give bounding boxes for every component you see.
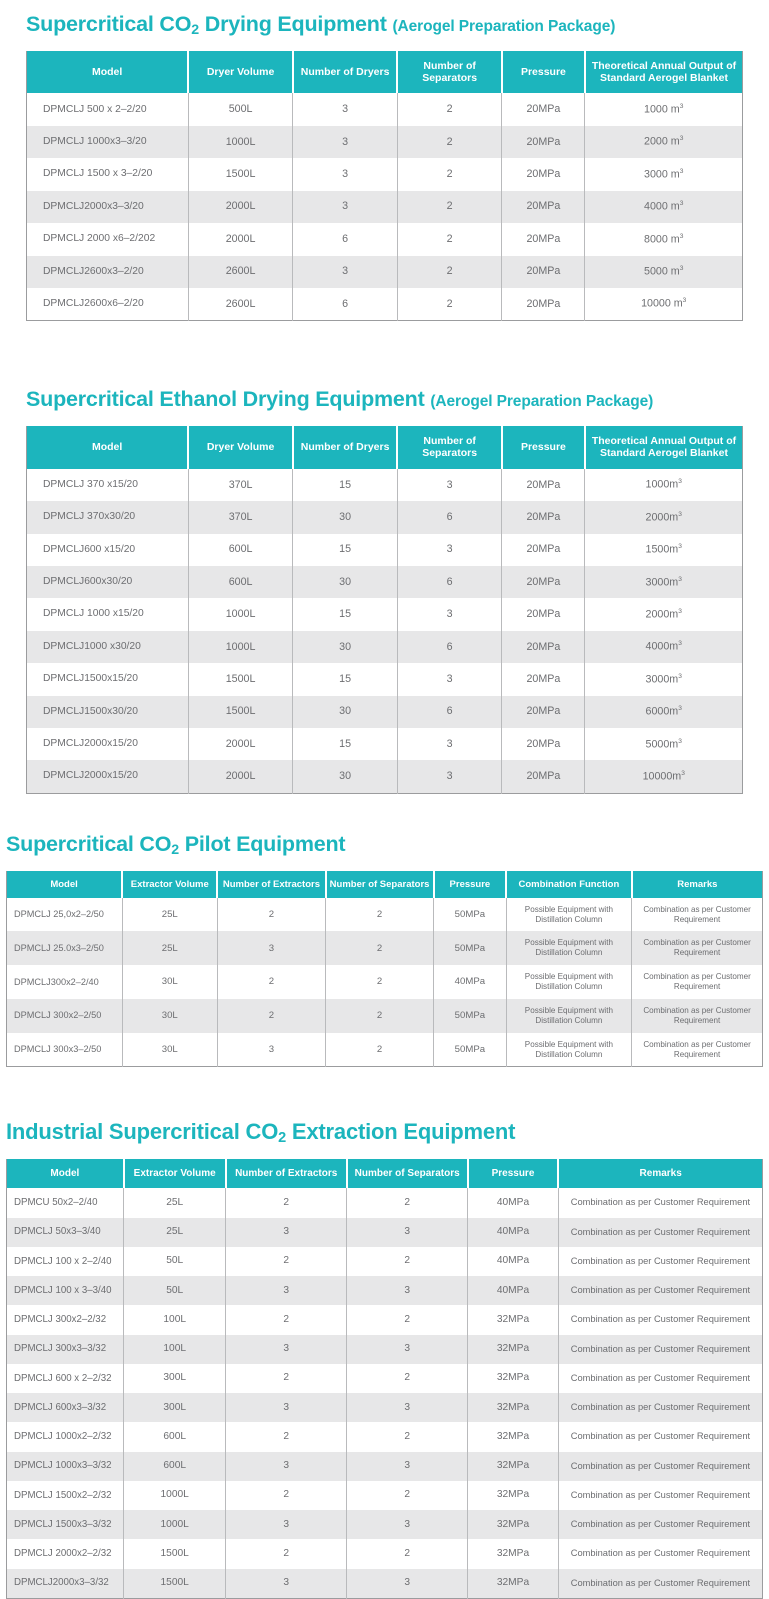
table-cell: Combination as per Customer Requirement xyxy=(558,1393,762,1422)
table-cell: 40MPa xyxy=(434,965,507,999)
col-header-model: Model xyxy=(27,51,189,94)
table-row: DPMCLJ 300x3–2/5030L3250MPaPossible Equi… xyxy=(7,1033,763,1067)
table-row: DPMCLJ 300x2–2/5030L2250MPaPossible Equi… xyxy=(7,999,763,1033)
table-cell: 2 xyxy=(397,126,502,158)
table-cell: 2 xyxy=(326,1033,434,1067)
table-cell: DPMCLJ 1000x2–2/32 xyxy=(7,1422,124,1451)
table-row: DPMCLJ 1500x2–2/321000L2232MPaCombinatio… xyxy=(7,1481,763,1510)
col-header-remarks: Remarks xyxy=(558,1159,762,1189)
table-cell: 32MPa xyxy=(468,1510,559,1539)
table-cell: 2 xyxy=(397,191,502,223)
table-cell: 2 xyxy=(326,898,434,932)
table-wrapper-co2-pilot: Model Extractor Volume Number of Extract… xyxy=(0,871,769,1068)
table-cell: 20MPa xyxy=(502,501,585,533)
table-row: DPMCLJ 100 x 2–2/4050L2240MPaCombination… xyxy=(7,1247,763,1276)
table-cell: 4000m3 xyxy=(585,631,743,663)
col-header-annual-output: Theoretical Annual Output of Standard Ae… xyxy=(585,426,743,469)
col-header-annual-output: Theoretical Annual Output of Standard Ae… xyxy=(585,51,743,94)
table-cell: 3 xyxy=(397,598,502,630)
table-header-row: Model Extractor Volume Number of Extract… xyxy=(7,871,763,898)
table-cell: 20MPa xyxy=(502,158,585,190)
table-row: DPMCLJ 300x2–2/32100L2232MPaCombination … xyxy=(7,1305,763,1334)
table-cell: 25L xyxy=(124,1218,226,1247)
table-cell: 3 xyxy=(397,760,502,793)
table-cell: 8000 m3 xyxy=(585,223,743,255)
col-header-pressure: Pressure xyxy=(468,1159,559,1189)
table-row: DPMCLJ1500x15/201500L15320MPa3000m3 xyxy=(27,663,743,695)
table-cell: Combination as per Customer Requirement xyxy=(558,1276,762,1305)
table-cell: 2600L xyxy=(188,288,293,321)
table-cell: 6 xyxy=(397,696,502,728)
table-row: DPMCLJ600 x15/20600L15320MPa1500m3 xyxy=(27,534,743,566)
table-cell: 50MPa xyxy=(434,1033,507,1067)
table-cell: DPMCLJ 100 x 2–2/40 xyxy=(7,1247,124,1276)
table-cell: 1500L xyxy=(124,1569,226,1599)
table-cell: 600L xyxy=(124,1452,226,1481)
table-cell: 20MPa xyxy=(502,93,585,125)
table-cell: Combination as per Customer Requirement xyxy=(558,1481,762,1510)
table-row: DPMCLJ 1000x3–3/201000L3220MPa2000 m3 xyxy=(27,126,743,158)
table-cell: 2000L xyxy=(188,728,293,760)
table-cell: 3 xyxy=(347,1276,468,1305)
table-cell: 2 xyxy=(226,1539,347,1568)
table-cell: 1000L xyxy=(188,126,293,158)
table-cell: Combination as per Customer Requirement xyxy=(558,1305,762,1334)
table-cell: Combination as per Customer Requirement xyxy=(558,1510,762,1539)
table-cell: 20MPa xyxy=(502,288,585,321)
table-cell: 10000 m3 xyxy=(585,288,743,321)
col-header-extractor-volume: Extractor Volume xyxy=(122,871,217,898)
table-header-row: Model Dryer Volume Number of Dryers Numb… xyxy=(27,51,743,94)
table-cell: 3 xyxy=(293,93,398,125)
table-row: DPMCLJ 1500 x 3–2/201500L3220MPa3000 m3 xyxy=(27,158,743,190)
table-cell: 3 xyxy=(226,1335,347,1364)
table-cell: DPMCLJ 25.0x3–2/50 xyxy=(7,931,123,965)
table-cell: 30 xyxy=(293,501,398,533)
col-header-number-of-separators: Number of Separators xyxy=(397,426,502,469)
table-ethanol-drying: Model Dryer Volume Number of Dryers Numb… xyxy=(26,426,743,794)
table-cell: DPMCLJ2600x3–2/20 xyxy=(27,256,189,288)
title-main-text: Industrial Supercritical CO xyxy=(6,1119,278,1144)
table-cell: 15 xyxy=(293,534,398,566)
table-row: DPMCLJ1500x30/201500L30620MPa6000m3 xyxy=(27,696,743,728)
table-cell: Possible Equipment with Distillation Col… xyxy=(506,931,631,965)
table-cell: 3 xyxy=(226,1510,347,1539)
table-cell: Possible Equipment with Distillation Col… xyxy=(506,898,631,932)
table-cell: 30L xyxy=(122,965,217,999)
col-header-extractor-volume: Extractor Volume xyxy=(124,1159,226,1189)
table-cell: 20MPa xyxy=(502,469,585,501)
table-cell: 20MPa xyxy=(502,760,585,793)
col-header-number-of-separators: Number of Separators xyxy=(326,871,434,898)
col-header-number-of-dryers: Number of Dryers xyxy=(293,426,398,469)
table-row: DPMCLJ 50x3–3/4025L3340MPaCombination as… xyxy=(7,1218,763,1247)
table-cell: 20MPa xyxy=(502,191,585,223)
title-subscript: 2 xyxy=(191,22,199,38)
title-subscript: 2 xyxy=(171,842,179,858)
table-wrapper-ethanol-drying: Model Dryer Volume Number of Dryers Numb… xyxy=(0,426,769,794)
table-cell: DPMCLJ 1000 x15/20 xyxy=(27,598,189,630)
table-cell: 3 xyxy=(397,469,502,501)
table-cell: DPMCLJ600 x15/20 xyxy=(27,534,189,566)
table-row: DPMCLJ 1000x3–3/32600L3332MPaCombination… xyxy=(7,1452,763,1481)
table-row: DPMCLJ600x30/20600L30620MPa3000m3 xyxy=(27,566,743,598)
table-cell: 50MPa xyxy=(434,999,507,1033)
table-cell: 1500m3 xyxy=(585,534,743,566)
table-cell: 2 xyxy=(226,1422,347,1451)
table-cell: 2 xyxy=(347,1364,468,1393)
table-cell: 2 xyxy=(217,965,325,999)
table-cell: 1000L xyxy=(124,1481,226,1510)
table-cell: 300L xyxy=(124,1364,226,1393)
table-cell: 6000m3 xyxy=(585,696,743,728)
page-title-industrial-extraction: Industrial Supercritical CO2 Extraction … xyxy=(0,1119,769,1144)
table-cell: 32MPa xyxy=(468,1305,559,1334)
title-tail-text: Pilot Equipment xyxy=(179,832,345,856)
table-cell: DPMCLJ2000x15/20 xyxy=(27,728,189,760)
table-cell: 32MPa xyxy=(468,1452,559,1481)
table-cell: DPMCLJ2600x6–2/20 xyxy=(27,288,189,321)
table-cell: 6 xyxy=(397,566,502,598)
table-row: DPMCLJ 370 x15/20370L15320MPa1000m3 xyxy=(27,469,743,501)
table-cell: 6 xyxy=(397,631,502,663)
table-cell: 32MPa xyxy=(468,1335,559,1364)
col-header-model: Model xyxy=(7,871,123,898)
table-row: DPMCLJ 25.0x3–2/5025L3250MPaPossible Equ… xyxy=(7,931,763,965)
table-cell: 25L xyxy=(122,931,217,965)
table-cell: 32MPa xyxy=(468,1364,559,1393)
page-title-co2-pilot: Supercritical CO2 Pilot Equipment xyxy=(0,832,769,857)
section-industrial-extraction: Industrial Supercritical CO2 Extraction … xyxy=(0,1067,769,1598)
table-cell: 2000L xyxy=(188,223,293,255)
table-cell: 2 xyxy=(397,93,502,125)
table-cell: 4000 m3 xyxy=(585,191,743,223)
table-cell: 32MPa xyxy=(468,1393,559,1422)
col-header-pressure: Pressure xyxy=(502,426,585,469)
spec-sheet-page: Supercritical CO2 Drying Equipment (Aero… xyxy=(0,0,769,1599)
table-cell: 20MPa xyxy=(502,534,585,566)
section-ethanol-drying: Supercritical Ethanol Drying Equipment (… xyxy=(0,321,769,794)
table-cell: 30 xyxy=(293,631,398,663)
table-cell: 2 xyxy=(326,931,434,965)
table-row: DPMCLJ 600x3–3/32300L3332MPaCombination … xyxy=(7,1393,763,1422)
table-cell: DPMCLJ1000 x30/20 xyxy=(27,631,189,663)
col-header-model: Model xyxy=(7,1159,124,1189)
table-cell: 3 xyxy=(293,158,398,190)
table-cell: 1000L xyxy=(188,598,293,630)
table-cell: 3 xyxy=(347,1510,468,1539)
table-cell: 40MPa xyxy=(468,1188,559,1217)
table-cell: 600L xyxy=(124,1422,226,1451)
col-header-remarks: Remarks xyxy=(632,871,763,898)
table-cell: DPMCLJ1500x15/20 xyxy=(27,663,189,695)
table-cell: Combination as per Customer Requirement xyxy=(632,898,763,932)
table-cell: 1000 m3 xyxy=(585,93,743,125)
table-row: DPMCLJ2600x6–2/202600L6220MPa10000 m3 xyxy=(27,288,743,321)
table-cell: DPMCLJ 1000x3–3/20 xyxy=(27,126,189,158)
table-cell: 600L xyxy=(188,566,293,598)
table-cell: 3000m3 xyxy=(585,663,743,695)
table-cell: 3 xyxy=(226,1569,347,1599)
table-cell: 2 xyxy=(347,1422,468,1451)
table-cell: Combination as per Customer Requirement xyxy=(558,1539,762,1568)
table-cell: DPMCLJ 370 x15/20 xyxy=(27,469,189,501)
table-cell: 32MPa xyxy=(468,1422,559,1451)
table-wrapper-co2-drying: Model Dryer Volume Number of Dryers Numb… xyxy=(0,51,769,322)
table-cell: 15 xyxy=(293,728,398,760)
title-tail-text: Extraction Equipment xyxy=(286,1119,515,1144)
table-cell: 2 xyxy=(217,898,325,932)
table-cell: Combination as per Customer Requirement xyxy=(632,931,763,965)
table-cell: 3 xyxy=(347,1393,468,1422)
col-header-pressure: Pressure xyxy=(434,871,507,898)
table-header-row: Model Dryer Volume Number of Dryers Numb… xyxy=(27,426,743,469)
table-cell: 370L xyxy=(188,501,293,533)
col-header-number-of-extractors: Number of Extractors xyxy=(217,871,325,898)
table-row: DPMCLJ 2000x2–2/321500L2232MPaCombinatio… xyxy=(7,1539,763,1568)
table-cell: 2 xyxy=(347,1481,468,1510)
table-cell: 1000L xyxy=(188,631,293,663)
table-cell: 25L xyxy=(122,898,217,932)
table-row: DPMCLJ1000 x30/201000L30620MPa4000m3 xyxy=(27,631,743,663)
table-body-co2-pilot: DPMCLJ 25,0x2–2/5025L2250MPaPossible Equ… xyxy=(7,898,763,1067)
table-cell: 2000L xyxy=(188,760,293,793)
table-cell: 100L xyxy=(124,1335,226,1364)
table-industrial-extraction: Model Extractor Volume Number of Extract… xyxy=(6,1159,763,1599)
table-cell: DPMCLJ2000x3–3/32 xyxy=(7,1569,124,1599)
table-cell: Combination as per Customer Requirement xyxy=(632,1033,763,1067)
table-row: DPMCLJ2000x15/202000L15320MPa5000m3 xyxy=(27,728,743,760)
table-row: DPMCLJ2000x3–3/321500L3332MPaCombination… xyxy=(7,1569,763,1599)
table-cell: 2 xyxy=(347,1247,468,1276)
table-row: DPMCLJ 2000 x6–2/2022000L6220MPa8000 m3 xyxy=(27,223,743,255)
table-cell: 3 xyxy=(226,1276,347,1305)
table-row: DPMCLJ2000x15/202000L30320MPa10000m3 xyxy=(27,760,743,793)
col-header-dryer-volume: Dryer Volume xyxy=(188,51,293,94)
table-cell: 32MPa xyxy=(468,1539,559,1568)
table-cell: Combination as per Customer Requirement xyxy=(558,1422,762,1451)
table-cell: 3 xyxy=(293,191,398,223)
table-cell: 2 xyxy=(397,223,502,255)
title-main-text: Supercritical CO xyxy=(26,12,191,36)
table-cell: DPMCLJ 300x3–2/50 xyxy=(7,1033,123,1067)
table-cell: 20MPa xyxy=(502,696,585,728)
table-body-ethanol-drying: DPMCLJ 370 x15/20370L15320MPa1000m3DPMCL… xyxy=(27,469,743,794)
table-cell: 300L xyxy=(124,1393,226,1422)
table-cell: Possible Equipment with Distillation Col… xyxy=(506,965,631,999)
table-cell: 25L xyxy=(124,1188,226,1217)
table-cell: 50L xyxy=(124,1247,226,1276)
table-cell: 1500L xyxy=(124,1539,226,1568)
table-cell: DPMCLJ 1500 x 3–2/20 xyxy=(27,158,189,190)
table-cell: DPMCLJ600x30/20 xyxy=(27,566,189,598)
table-cell: Combination as per Customer Requirement xyxy=(558,1452,762,1481)
table-cell: 2 xyxy=(226,1188,347,1217)
title-main-text: Supercritical Ethanol Drying Equipment xyxy=(26,387,425,411)
table-cell: DPMCLJ 600 x 2–2/32 xyxy=(7,1364,124,1393)
table-cell: DPMCLJ 600x3–3/32 xyxy=(7,1393,124,1422)
col-header-combination-function: Combination Function xyxy=(506,871,631,898)
table-cell: DPMCLJ 500 x 2–2/20 xyxy=(27,93,189,125)
table-cell: 40MPa xyxy=(468,1276,559,1305)
table-cell: DPMCLJ 300x3–3/32 xyxy=(7,1335,124,1364)
table-row: DPMCLJ 300x3–3/32100L3332MPaCombination … xyxy=(7,1335,763,1364)
table-row: DPMCLJ 1500x3–3/321000L3332MPaCombinatio… xyxy=(7,1510,763,1539)
table-cell: 15 xyxy=(293,663,398,695)
table-cell: DPMCLJ 1500x2–2/32 xyxy=(7,1481,124,1510)
table-cell: 30L xyxy=(122,999,217,1033)
col-header-number-of-separators: Number of Separators xyxy=(397,51,502,94)
table-row: DPMCLJ 1000x2–2/32600L2232MPaCombination… xyxy=(7,1422,763,1451)
table-cell: 2 xyxy=(397,158,502,190)
table-cell: DPMCLJ 2000x2–2/32 xyxy=(7,1539,124,1568)
table-cell: 2000m3 xyxy=(585,501,743,533)
table-co2-drying: Model Dryer Volume Number of Dryers Numb… xyxy=(26,51,743,322)
table-cell: 600L xyxy=(188,534,293,566)
table-cell: 3 xyxy=(397,728,502,760)
table-cell: 50MPa xyxy=(434,898,507,932)
table-cell: Combination as per Customer Requirement xyxy=(558,1247,762,1276)
table-cell: 10000m3 xyxy=(585,760,743,793)
table-cell: DPMCLJ 50x3–3/40 xyxy=(7,1218,124,1247)
table-cell: 20MPa xyxy=(502,223,585,255)
table-cell: 32MPa xyxy=(468,1569,559,1599)
table-row: DPMCLJ 500 x 2–2/20500L3220MPa1000 m3 xyxy=(27,93,743,125)
col-header-model: Model xyxy=(27,426,189,469)
table-cell: 1500L xyxy=(188,696,293,728)
table-cell: 3 xyxy=(293,256,398,288)
table-cell: 40MPa xyxy=(468,1247,559,1276)
table-cell: DPMCLJ 300x2–2/32 xyxy=(7,1305,124,1334)
table-cell: 30 xyxy=(293,760,398,793)
table-row: DPMCLJ2600x3–2/202600L3220MPa5000 m3 xyxy=(27,256,743,288)
table-cell: 2 xyxy=(226,1481,347,1510)
table-cell: 1500L xyxy=(188,158,293,190)
col-header-number-of-separators: Number of Separators xyxy=(347,1159,468,1189)
table-cell: DPMCLJ 1500x3–3/32 xyxy=(7,1510,124,1539)
table-cell: 3 xyxy=(293,126,398,158)
table-cell: 20MPa xyxy=(502,631,585,663)
table-cell: 3 xyxy=(226,1452,347,1481)
table-cell: DPMCLJ 2000 x6–2/202 xyxy=(27,223,189,255)
table-cell: 20MPa xyxy=(502,256,585,288)
table-cell: 5000m3 xyxy=(585,728,743,760)
table-cell: 2 xyxy=(397,256,502,288)
table-cell: DPMCLJ300x2–2/40 xyxy=(7,965,123,999)
table-cell: 3 xyxy=(347,1569,468,1599)
table-cell: Combination as per Customer Requirement xyxy=(558,1188,762,1217)
table-cell: Combination as per Customer Requirement xyxy=(632,999,763,1033)
table-cell: 40MPa xyxy=(468,1218,559,1247)
table-cell: 2 xyxy=(226,1247,347,1276)
table-co2-pilot: Model Extractor Volume Number of Extract… xyxy=(6,871,763,1068)
table-cell: 30 xyxy=(293,696,398,728)
table-cell: 20MPa xyxy=(502,728,585,760)
table-cell: 3 xyxy=(347,1452,468,1481)
table-cell: 2 xyxy=(347,1539,468,1568)
table-cell: 2000 m3 xyxy=(585,126,743,158)
table-row: DPMCLJ 25,0x2–2/5025L2250MPaPossible Equ… xyxy=(7,898,763,932)
table-row: DPMCLJ 1000 x15/201000L15320MPa2000m3 xyxy=(27,598,743,630)
table-cell: 3 xyxy=(217,1033,325,1067)
table-row: DPMCLJ2000x3–3/202000L3220MPa4000 m3 xyxy=(27,191,743,223)
table-cell: 3 xyxy=(226,1393,347,1422)
table-cell: 6 xyxy=(293,223,398,255)
table-cell: 6 xyxy=(293,288,398,321)
title-subscript: 2 xyxy=(278,1130,286,1146)
col-header-number-of-dryers: Number of Dryers xyxy=(293,51,398,94)
table-cell: 20MPa xyxy=(502,566,585,598)
table-header-row: Model Extractor Volume Number of Extract… xyxy=(7,1159,763,1189)
table-cell: DPMCLJ2000x3–3/20 xyxy=(27,191,189,223)
table-cell: 2 xyxy=(226,1305,347,1334)
col-header-pressure: Pressure xyxy=(502,51,585,94)
title-paren-text: (Aerogel Preparation Package) xyxy=(430,393,653,410)
table-cell: 2000L xyxy=(188,191,293,223)
col-header-number-of-extractors: Number of Extractors xyxy=(226,1159,347,1189)
table-cell: 50MPa xyxy=(434,931,507,965)
table-cell: 20MPa xyxy=(502,126,585,158)
table-cell: 3 xyxy=(217,931,325,965)
table-cell: 30 xyxy=(293,566,398,598)
table-cell: 3 xyxy=(347,1335,468,1364)
table-cell: DPMCU 50x2–2/40 xyxy=(7,1188,124,1217)
table-cell: Possible Equipment with Distillation Col… xyxy=(506,999,631,1033)
table-cell: 500L xyxy=(188,93,293,125)
table-cell: DPMCLJ 1000x3–3/32 xyxy=(7,1452,124,1481)
table-body-industrial-extraction: DPMCU 50x2–2/4025L2240MPaCombination as … xyxy=(7,1188,763,1598)
table-cell: 15 xyxy=(293,469,398,501)
table-cell: 2 xyxy=(347,1305,468,1334)
table-cell: 2 xyxy=(326,999,434,1033)
table-cell: 2 xyxy=(226,1364,347,1393)
table-cell: Combination as per Customer Requirement xyxy=(558,1335,762,1364)
table-row: DPMCLJ 370x30/20370L30620MPa2000m3 xyxy=(27,501,743,533)
table-cell: 100L xyxy=(124,1305,226,1334)
table-cell: Combination as per Customer Requirement xyxy=(632,965,763,999)
table-cell: 1000L xyxy=(124,1510,226,1539)
page-title-ethanol-drying: Supercritical Ethanol Drying Equipment (… xyxy=(0,387,769,412)
table-cell: 3000 m3 xyxy=(585,158,743,190)
table-cell: 2000m3 xyxy=(585,598,743,630)
table-body-co2-drying: DPMCLJ 500 x 2–2/20500L3220MPa1000 m3DPM… xyxy=(27,93,743,320)
table-cell: Possible Equipment with Distillation Col… xyxy=(506,1033,631,1067)
table-cell: 3 xyxy=(397,534,502,566)
table-cell: DPMCLJ 300x2–2/50 xyxy=(7,999,123,1033)
table-cell: 2 xyxy=(217,999,325,1033)
table-cell: DPMCLJ 100 x 3–3/40 xyxy=(7,1276,124,1305)
table-cell: DPMCLJ1500x30/20 xyxy=(27,696,189,728)
page-title-co2-drying: Supercritical CO2 Drying Equipment (Aero… xyxy=(0,12,769,37)
table-cell: 3 xyxy=(347,1218,468,1247)
table-row: DPMCLJ300x2–2/4030L2240MPaPossible Equip… xyxy=(7,965,763,999)
table-cell: 6 xyxy=(397,501,502,533)
table-cell: DPMCLJ 25,0x2–2/50 xyxy=(7,898,123,932)
table-cell: Combination as per Customer Requirement xyxy=(558,1569,762,1599)
table-cell: DPMCLJ 370x30/20 xyxy=(27,501,189,533)
table-cell: 15 xyxy=(293,598,398,630)
col-header-dryer-volume: Dryer Volume xyxy=(188,426,293,469)
table-cell: 2 xyxy=(347,1188,468,1217)
table-cell: 1500L xyxy=(188,663,293,695)
table-wrapper-industrial-extraction: Model Extractor Volume Number of Extract… xyxy=(0,1159,769,1599)
title-paren-text: (Aerogel Preparation Package) xyxy=(392,18,615,35)
table-cell: 3 xyxy=(226,1218,347,1247)
table-cell: 32MPa xyxy=(468,1481,559,1510)
table-cell: 3000m3 xyxy=(585,566,743,598)
table-cell: 370L xyxy=(188,469,293,501)
table-cell: 20MPa xyxy=(502,663,585,695)
